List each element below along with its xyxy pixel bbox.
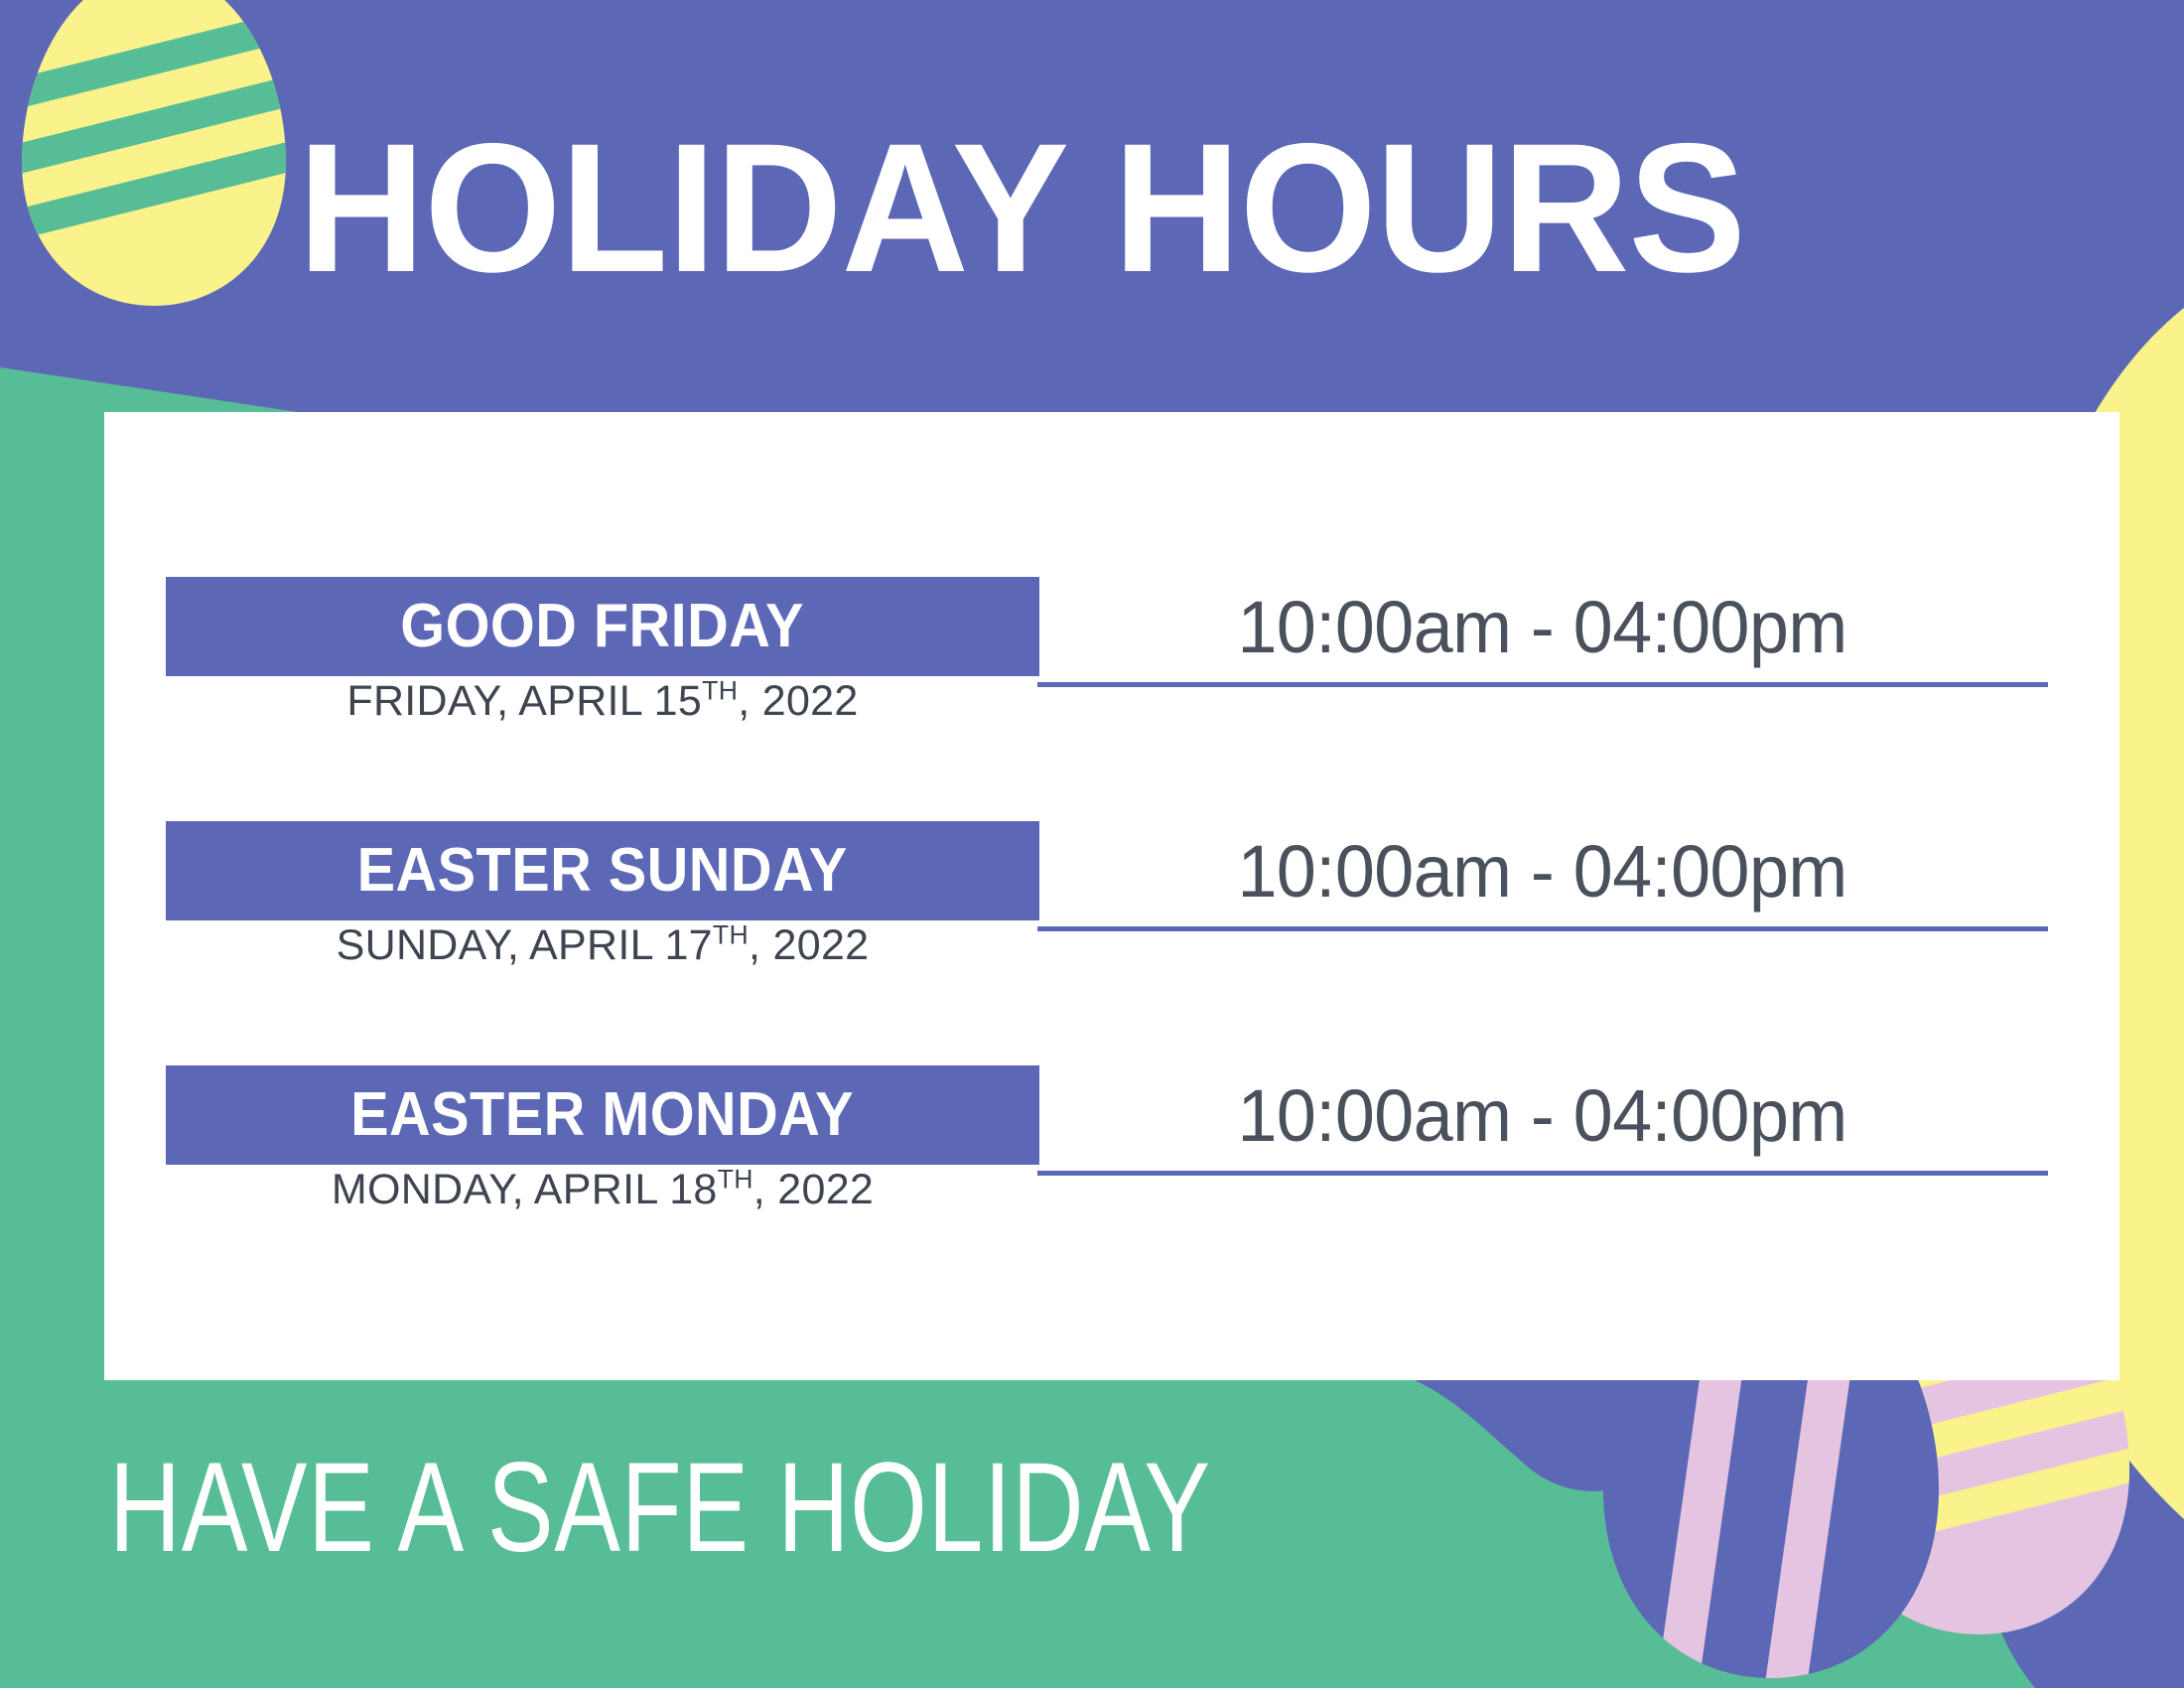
holiday-name-bar: GOOD FRIDAY [166, 577, 1039, 676]
holiday-hours-label: 10:00am - 04:00pm [1238, 591, 1847, 664]
holiday-date-prefix: SUNDAY, APRIL 17 [337, 921, 713, 969]
holiday-date-label: FRIDAY, APRIL 15TH, 2022 [166, 678, 1039, 725]
table-row: EASTER MONDAY MONDAY, APRIL 18TH, 2022 1… [104, 1065, 2119, 1314]
holiday-date-suffix: , 2022 [749, 921, 869, 969]
footer-message: HAVE A SAFE HOLIDAY [109, 1445, 1211, 1572]
holiday-name-bar: EASTER MONDAY [166, 1065, 1039, 1165]
table-row: EASTER SUNDAY SUNDAY, APRIL 17TH, 2022 1… [104, 821, 2119, 1069]
holiday-date-suffix: , 2022 [753, 1166, 874, 1213]
holiday-hours-label: 10:00am - 04:00pm [1238, 835, 1847, 909]
holiday-name-label: GOOD FRIDAY [401, 596, 805, 657]
holiday-hours-poster: HOLIDAY HOURS GOOD FRIDAY FRIDAY, APRIL … [0, 0, 2184, 1688]
holiday-date-label: MONDAY, APRIL 18TH, 2022 [166, 1167, 1039, 1213]
holiday-name-bar: EASTER SUNDAY [166, 821, 1039, 920]
holiday-hours-cell: 10:00am - 04:00pm [1037, 573, 2048, 687]
holiday-date-ordinal: TH [702, 676, 738, 706]
holiday-date-suffix: , 2022 [738, 677, 858, 725]
holiday-hours-cell: 10:00am - 04:00pm [1037, 1061, 2048, 1176]
holiday-date-prefix: FRIDAY, APRIL 15 [346, 677, 702, 725]
holiday-name-label: EASTER MONDAY [351, 1084, 855, 1146]
table-row: GOOD FRIDAY FRIDAY, APRIL 15TH, 2022 10:… [104, 577, 2119, 825]
holiday-date-ordinal: TH [713, 920, 749, 950]
holiday-date-ordinal: TH [718, 1165, 753, 1195]
holiday-date-label: SUNDAY, APRIL 17TH, 2022 [166, 922, 1039, 969]
holiday-hours-label: 10:00am - 04:00pm [1238, 1079, 1847, 1153]
holiday-date-prefix: MONDAY, APRIL 18 [332, 1166, 718, 1213]
hours-list: GOOD FRIDAY FRIDAY, APRIL 15TH, 2022 10:… [104, 412, 2119, 1380]
page-title: HOLIDAY HOURS [298, 117, 1745, 301]
holiday-hours-cell: 10:00am - 04:00pm [1037, 817, 2048, 931]
holiday-name-label: EASTER SUNDAY [357, 840, 848, 902]
